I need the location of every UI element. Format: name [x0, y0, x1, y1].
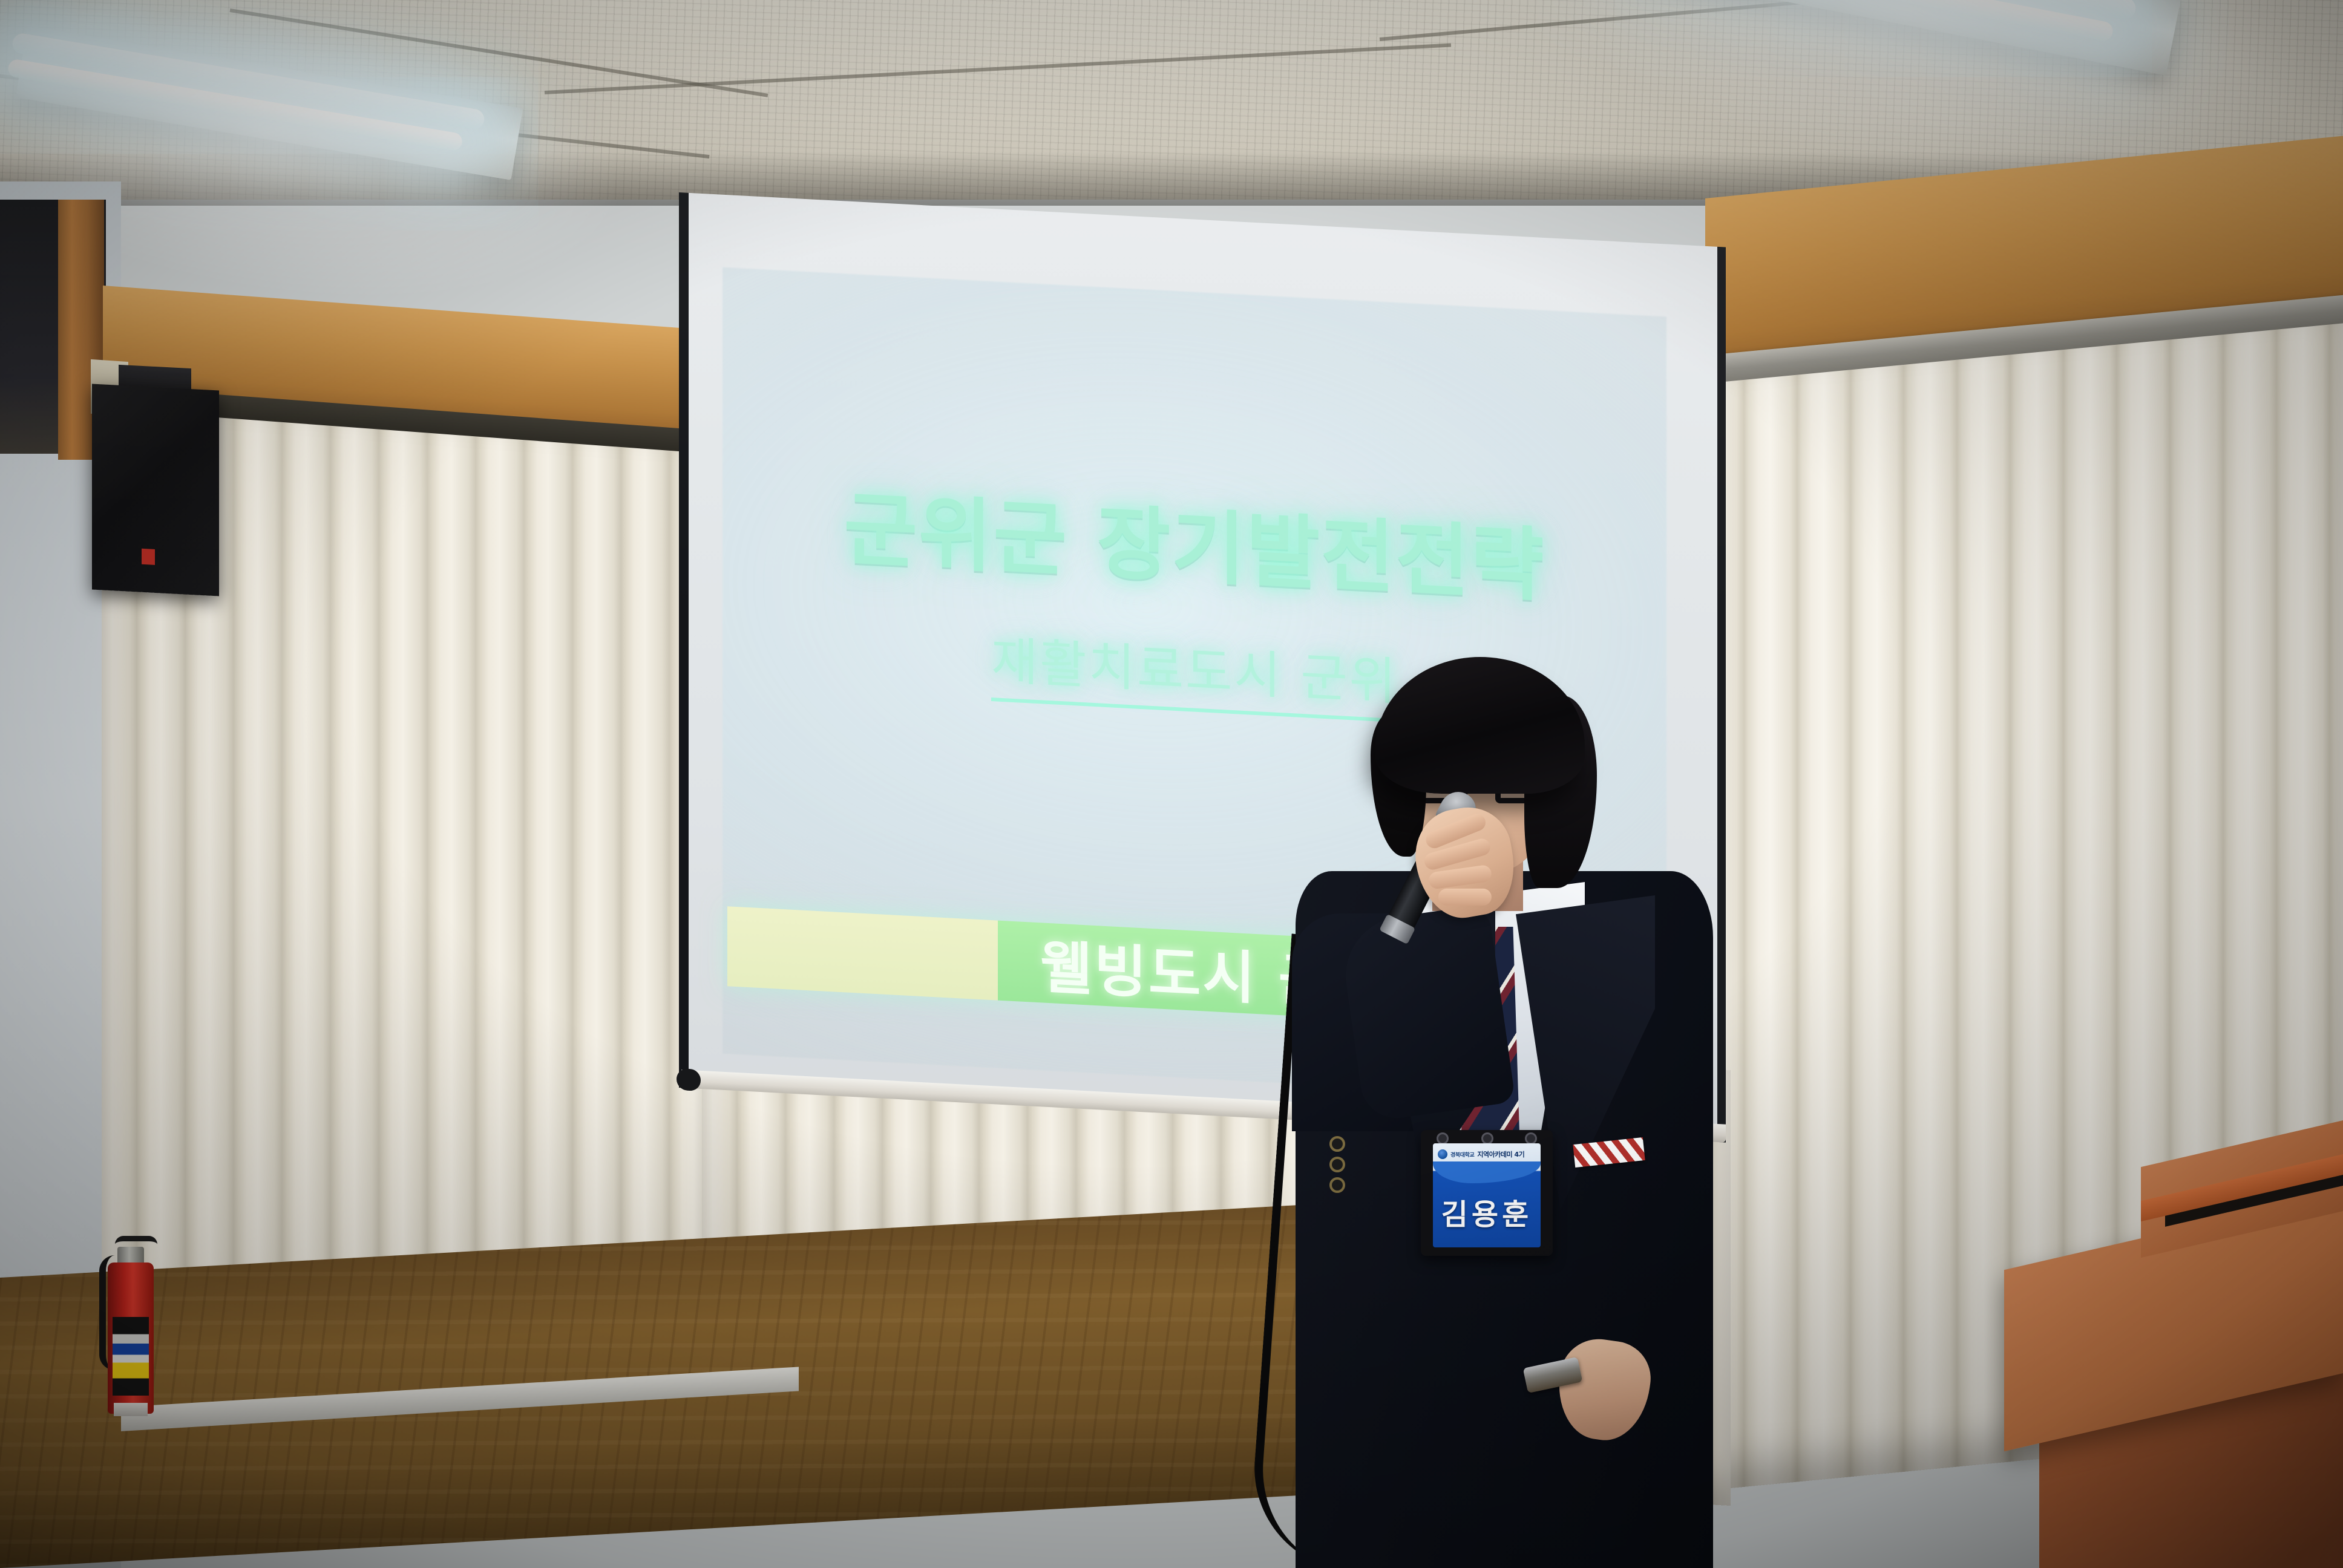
screen-edge-left [679, 192, 689, 1088]
speaker-logo-badge [142, 549, 155, 565]
screen-bar-end-cap [677, 1068, 701, 1091]
presenter [1274, 653, 1734, 1568]
name-badge: 경북대학교 지역아카데미 4기 김용훈 [1421, 1130, 1553, 1256]
wall-speaker [92, 384, 219, 596]
extinguisher-label [113, 1317, 149, 1396]
podium [2004, 1120, 2343, 1568]
badge-name-text: 김용훈 [1433, 1191, 1541, 1233]
extinguisher-base [114, 1403, 148, 1416]
sleeve-buttons [1329, 1136, 1361, 1215]
slide-title: 군위군 장기발전전략 [723, 459, 1666, 624]
badge-header: 경북대학교 지역아카데미 4기 [1438, 1146, 1536, 1162]
badge-wave-graphic [1433, 1161, 1541, 1183]
arm-raised [1338, 904, 1515, 1123]
photo-scene: 군위군 장기발전전략 재활치료도시 군위 웰빙도시 군위 [0, 0, 2343, 1568]
hair-front [1375, 657, 1585, 794]
badge-org-text: 경북대학교 [1450, 1151, 1474, 1158]
banner-segment-pale [727, 906, 998, 1000]
badge-card: 경북대학교 지역아카데미 4기 김용훈 [1433, 1143, 1541, 1247]
fire-extinguisher [97, 1231, 163, 1416]
organization-logo-icon [1438, 1149, 1447, 1159]
badge-event-text: 지역아카데미 4기 [1477, 1149, 1524, 1159]
